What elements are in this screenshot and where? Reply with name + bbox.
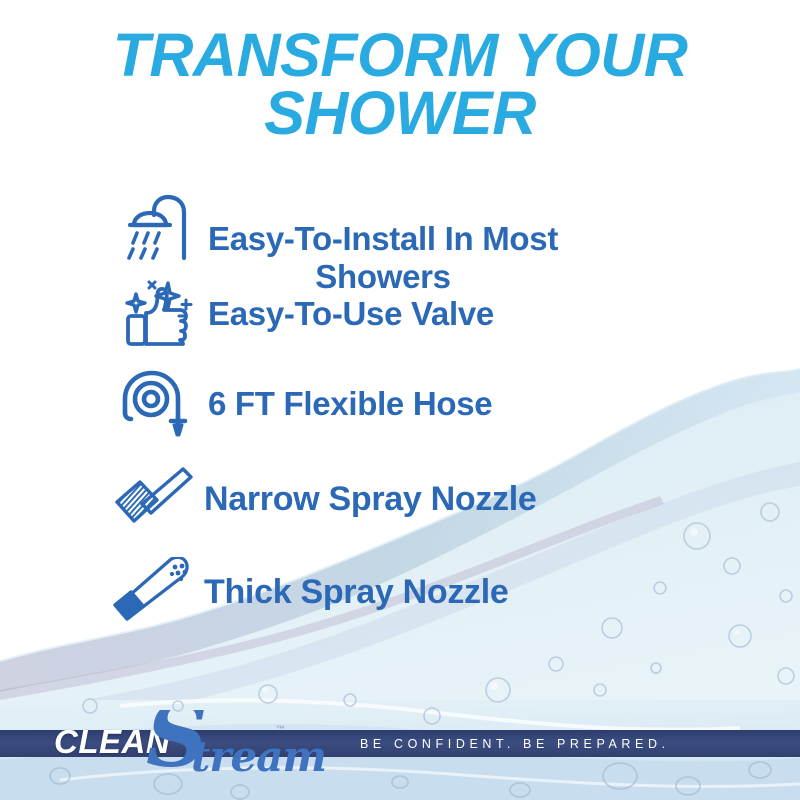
feature-label-hose: 6 FT Flexible Hose xyxy=(204,385,492,423)
trademark-symbol: ™ xyxy=(276,724,285,734)
feature-item-shower: Easy-To-Install In Most Showers xyxy=(0,186,800,272)
feature-item-thick-nozzle: Thick Spray Nozzle xyxy=(0,546,800,638)
shower-head-icon xyxy=(112,190,204,264)
feature-label-line1: Easy-To-Install In Most xyxy=(208,220,558,257)
feature-label-thick-nozzle: Thick Spray Nozzle xyxy=(204,573,508,611)
narrow-spray-nozzle-icon xyxy=(100,462,204,536)
headline-line-2: SHOWER xyxy=(0,84,800,142)
thumbs-up-sparkle-icon xyxy=(112,277,204,351)
logo-stream-text: tream xyxy=(191,736,326,778)
page-title: TRANSFORM YOUR SHOWER xyxy=(0,26,800,142)
feature-label-valve: Easy-To-Use Valve xyxy=(204,295,494,333)
thick-spray-nozzle-icon xyxy=(100,555,204,629)
feature-label-narrow-nozzle: Narrow Spray Nozzle xyxy=(204,480,537,518)
footer-branding-bar: CLEAN S tream ™ BE CONFIDENT. BE PREPARE… xyxy=(0,710,800,800)
headline-line-1: TRANSFORM YOUR xyxy=(0,26,800,84)
footer-tagline: BE CONFIDENT. BE PREPARED. xyxy=(360,730,670,757)
cleanstream-logo: CLEAN S tream ™ xyxy=(8,710,308,790)
feature-item-hose: 6 FT Flexible Hose xyxy=(0,356,800,452)
feature-list: Easy-To-Install In Most Showers xyxy=(0,186,800,638)
feature-item-narrow-nozzle: Narrow Spray Nozzle xyxy=(0,452,800,546)
feature-item-valve: Easy-To-Use Valve xyxy=(0,272,800,356)
coiled-hose-icon xyxy=(112,367,204,441)
